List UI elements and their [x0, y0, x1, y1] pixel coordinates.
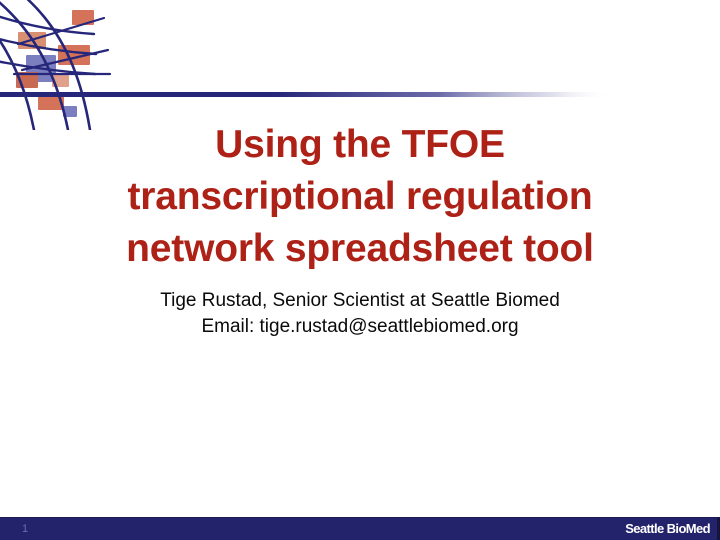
page-title: Using the TFOE transcriptional regulatio…	[60, 119, 660, 275]
slide-number: 1	[22, 522, 28, 536]
title-block: Using the TFOE transcriptional regulatio…	[60, 119, 660, 275]
seattle-biomed-logo: Seattle BioMed	[625, 522, 710, 536]
deco-horizontal-rule	[0, 92, 612, 97]
deco-grid-lines	[14, 18, 110, 74]
globe-grid-graphic	[0, 0, 620, 130]
deco-meridians	[0, 0, 90, 130]
deco-squares	[16, 10, 94, 117]
deco-parallels	[0, 0, 96, 74]
subtitle-block: Tige Rustad, Senior Scientist at Seattle…	[60, 288, 660, 340]
presentation-slide: Using the TFOE transcriptional regulatio…	[0, 0, 720, 540]
subtitle-presenter: Tige Rustad, Senior Scientist at Seattle…	[60, 288, 660, 314]
footer-bar: 1 Seattle BioMed	[0, 517, 720, 540]
subtitle-email: Email: tige.rustad@seattlebiomed.org	[60, 314, 660, 340]
